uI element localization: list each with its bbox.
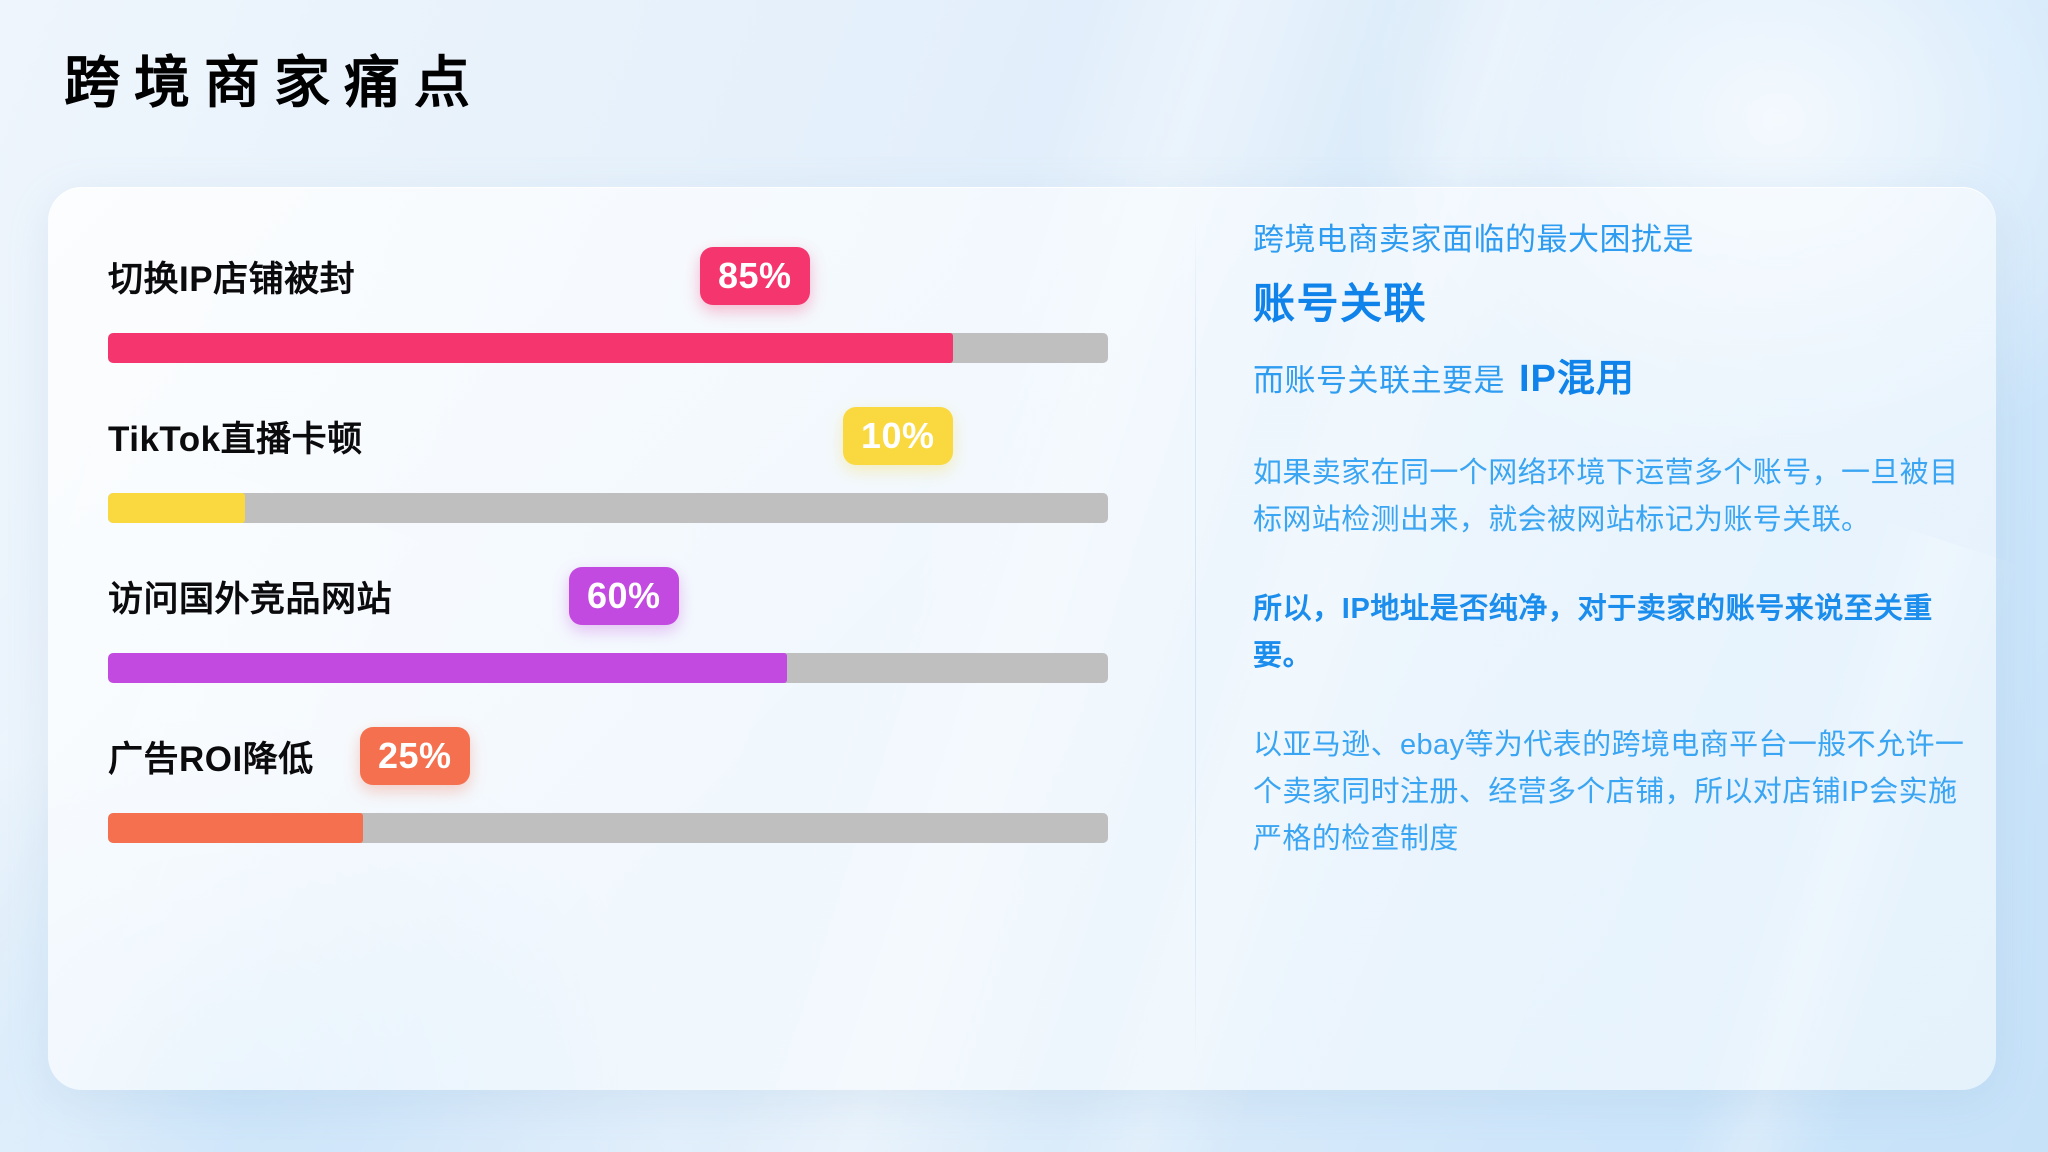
bar-fill [108,813,363,843]
info-mixed-prefix: 而账号关联主要是 [1253,358,1505,405]
bar-value-badge: 85% [700,247,810,305]
bar-header: 广告ROI降低25% [108,717,1165,795]
bar-track [108,653,1108,683]
bar-track [108,493,1108,523]
bar-track [108,813,1108,843]
bar-value-badge: 25% [360,727,470,785]
bar-header: TikTok直播卡顿10% [108,397,1165,475]
bar-label: 访问国外竞品网站 [108,571,392,622]
bar-row: 访问国外竞品网站60% [108,557,1165,717]
bar-row: TikTok直播卡顿10% [108,397,1165,557]
bar-label: 广告ROI降低 [108,731,314,782]
info-mixed-line: 而账号关联主要是 IP混用 [1253,351,1966,408]
bar-track [108,333,1108,363]
bar-label: 切换IP店铺被封 [108,251,355,302]
bar-fill [108,333,953,363]
info-headline: 账号关联 [1253,274,1966,334]
page-title: 跨境商家痛点 [64,52,484,115]
info-text-stack: 跨境电商卖家面临的最大困扰是 账号关联 而账号关联主要是 IP混用 如果卖家在同… [1253,199,1966,863]
info-text-panel: 跨境电商卖家面临的最大困扰是 账号关联 而账号关联主要是 IP混用 如果卖家在同… [1196,187,1996,1090]
bar-value-badge: 10% [843,407,953,465]
bar-header: 切换IP店铺被封85% [108,237,1165,315]
info-paragraph-1: 如果卖家在同一个网络环境下运营多个账号，一旦被目标网站检测出来，就会被网站标记为… [1253,450,1966,544]
bar-chart-panel: 切换IP店铺被封85%TikTok直播卡顿10%访问国外竞品网站60%广告ROI… [48,187,1195,1090]
info-lead-text: 跨境电商卖家面临的最大困扰是 [1253,217,1966,264]
info-paragraph-3: 以亚马逊、ebay等为代表的跨境电商平台一般不允许一个卖家同时注册、经营多个店铺… [1253,722,1966,863]
bar-header: 访问国外竞品网站60% [108,557,1165,635]
content-card: 切换IP店铺被封85%TikTok直播卡顿10%访问国外竞品网站60%广告ROI… [48,187,1996,1090]
info-paragraph-2: 所以，IP地址是否纯净，对于卖家的账号来说至关重要。 [1253,586,1966,680]
bar-chart-list: 切换IP店铺被封85%TikTok直播卡顿10%访问国外竞品网站60%广告ROI… [108,237,1165,877]
bar-value-badge: 60% [569,567,679,625]
bar-fill [108,653,787,683]
bar-fill [108,493,245,523]
bar-label: TikTok直播卡顿 [108,411,363,462]
bar-row: 切换IP店铺被封85% [108,237,1165,397]
bar-row: 广告ROI降低25% [108,717,1165,877]
info-mixed-highlight: IP混用 [1519,351,1635,408]
